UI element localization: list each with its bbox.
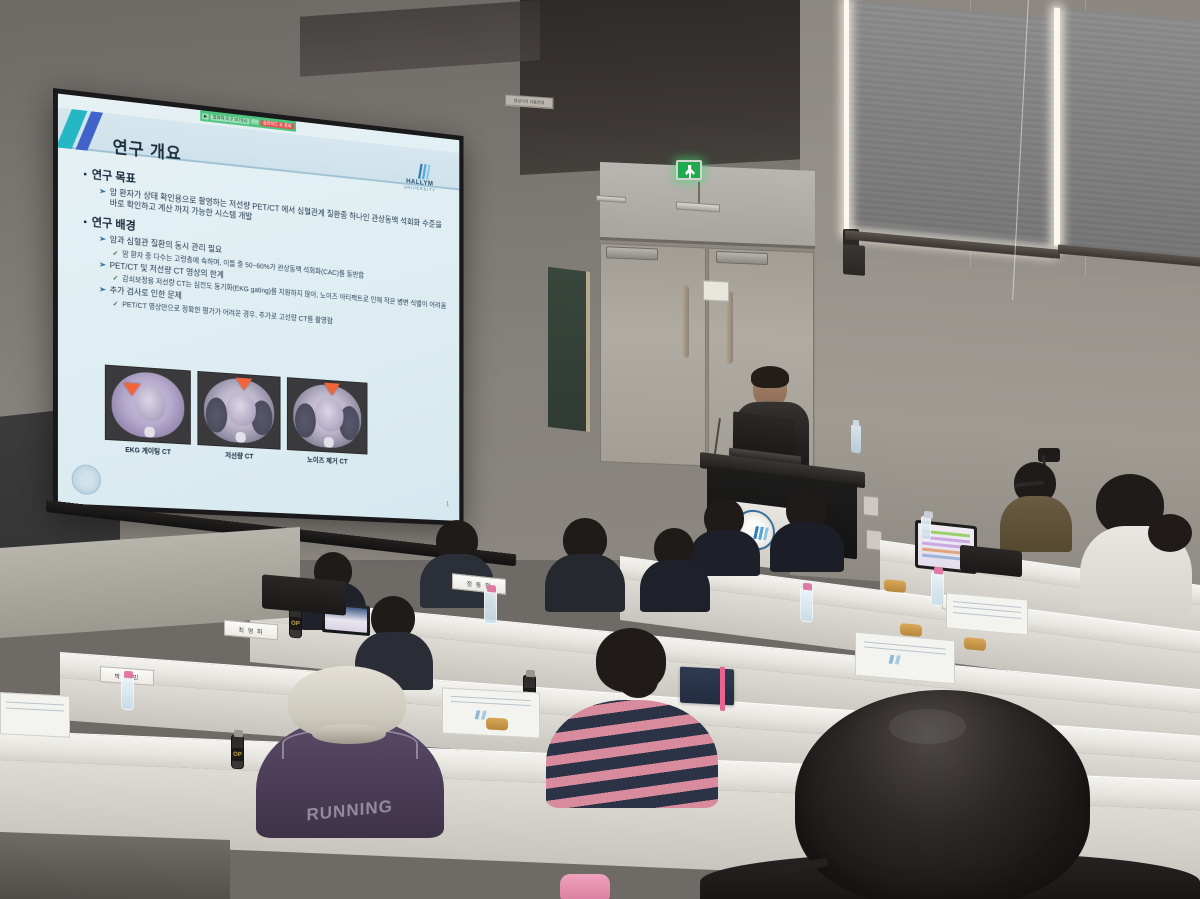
snack-bar-icon (964, 637, 986, 651)
door-closer-right (716, 251, 768, 265)
slide-heading-1-label: 연구 목표 (92, 166, 136, 186)
door-handle-right[interactable] (726, 291, 733, 363)
slide-heading-2-label: 연구 배경 (92, 214, 136, 234)
arrow-bullet-icon: ➢ (99, 259, 106, 271)
ct-scan-image-2 (197, 371, 280, 450)
ct-caption-3: 노이즈 제거 CT (287, 454, 368, 468)
hair-bun (618, 664, 658, 698)
baseball-cap-icon (288, 666, 406, 738)
chalkboard-right (548, 267, 590, 432)
ct-caption-1: EKG 게이팅 CT (105, 444, 191, 458)
notebook-icon (680, 667, 734, 706)
pink-cup-icon (560, 874, 610, 899)
water-bottle-icon (800, 587, 813, 622)
light-rod (698, 182, 700, 204)
bullet-dot-icon: ▪ (83, 217, 86, 228)
slide-page-number: 1 (446, 502, 449, 508)
ct-scan-image-3 (287, 377, 368, 454)
ct-image-row: EKG 게이팅 CT 저선량 CT (105, 365, 368, 468)
water-bottle-icon (121, 676, 134, 711)
ct-pointer-arrow-icon (324, 383, 340, 396)
slide-title: 연구 개요 (113, 133, 182, 165)
door-leaf-left[interactable] (600, 243, 706, 466)
audience-person-vest (1000, 462, 1072, 546)
wall-speaker-icon (843, 244, 865, 276)
bullet-dot-icon: ▪ (83, 169, 86, 180)
seat-back (262, 574, 346, 615)
floor-aisle (0, 832, 230, 899)
handout-paper (946, 592, 1028, 635)
hair-bun (1148, 514, 1192, 552)
ct-pointer-arrow-icon (236, 377, 253, 391)
slide-footer-seal-icon (72, 464, 101, 495)
exit-sign-icon (676, 160, 702, 180)
person-foreground-glasses (795, 690, 1090, 899)
audience-person-2 (770, 490, 844, 564)
ct-pointer-arrow-icon (123, 383, 140, 397)
arrow-bullet-icon: ➢ (99, 234, 106, 246)
lecture-hall-photo: ▶ 발표자 도구 보기(V) ... 슬라이드 쇼 종료 연구 개요 HALLY… (0, 0, 1200, 899)
handout-paper (0, 692, 70, 738)
ct-caption-2: 저선량 CT (197, 449, 280, 463)
name-placard: 최 영 희 (224, 620, 278, 641)
osd-play-icon[interactable]: ▶ (202, 113, 209, 120)
projection-screen: ▶ 발표자 도구 보기(V) ... 슬라이드 쇼 종료 연구 개요 HALLY… (53, 88, 464, 526)
check-bullet-icon: ✓ (113, 298, 119, 308)
osd-presenter-view-label[interactable]: 발표자 도구 보기(V) (211, 114, 249, 124)
audience-person-5 (545, 518, 625, 602)
arrow-bullet-icon: ➢ (99, 284, 106, 296)
presentation-slide: ▶ 발표자 도구 보기(V) ... 슬라이드 쇼 종료 연구 개요 HALLY… (58, 94, 459, 521)
person-striped-shirt (546, 700, 718, 808)
window-blind-right (1060, 8, 1200, 266)
door-notice-paper (703, 280, 729, 301)
arrow-bullet-icon: ➢ (99, 186, 106, 209)
ct-cell: 저선량 CT (197, 371, 280, 463)
snack-bar-icon (884, 579, 906, 593)
door-handle-left[interactable] (682, 285, 689, 357)
audience-person-6 (640, 528, 710, 604)
water-bottle-icon (931, 571, 944, 606)
handout-paper (855, 632, 955, 685)
hallym-wave-icon (407, 162, 433, 180)
check-bullet-icon: ✓ (113, 248, 119, 258)
osd-end-show-button[interactable]: 슬라이드 쇼 종료 (260, 119, 294, 129)
osd-more-icon[interactable]: ... (251, 119, 258, 125)
water-bottle-icon (921, 515, 931, 540)
presenter-hair (751, 366, 789, 388)
door-closer-left (606, 246, 658, 260)
window-blind-left (848, 0, 1054, 259)
ct-cell: EKG 게이팅 CT (105, 365, 191, 459)
ct-cell: 노이즈 제거 CT (287, 377, 368, 468)
wall-outlet-icon (863, 495, 879, 517)
snack-bar-icon (486, 717, 508, 730)
coffee-can-icon: OP (231, 735, 244, 770)
snack-bar-icon (900, 623, 922, 637)
handout-paper (442, 687, 540, 738)
podium-water-bottle-icon (851, 424, 861, 453)
water-bottle-icon (484, 589, 497, 624)
slide-body: ▪ 연구 목표 ➢ 암 환자가 상태 확인용으로 촬영하는 저선량 PET/CT… (83, 158, 447, 334)
jacket-back-text: RUNNING (282, 794, 417, 828)
ct-scan-image-1 (105, 365, 191, 445)
check-bullet-icon: ✓ (113, 273, 119, 283)
hallym-university-logo: HALLYM UNIVERSITY (394, 161, 446, 194)
